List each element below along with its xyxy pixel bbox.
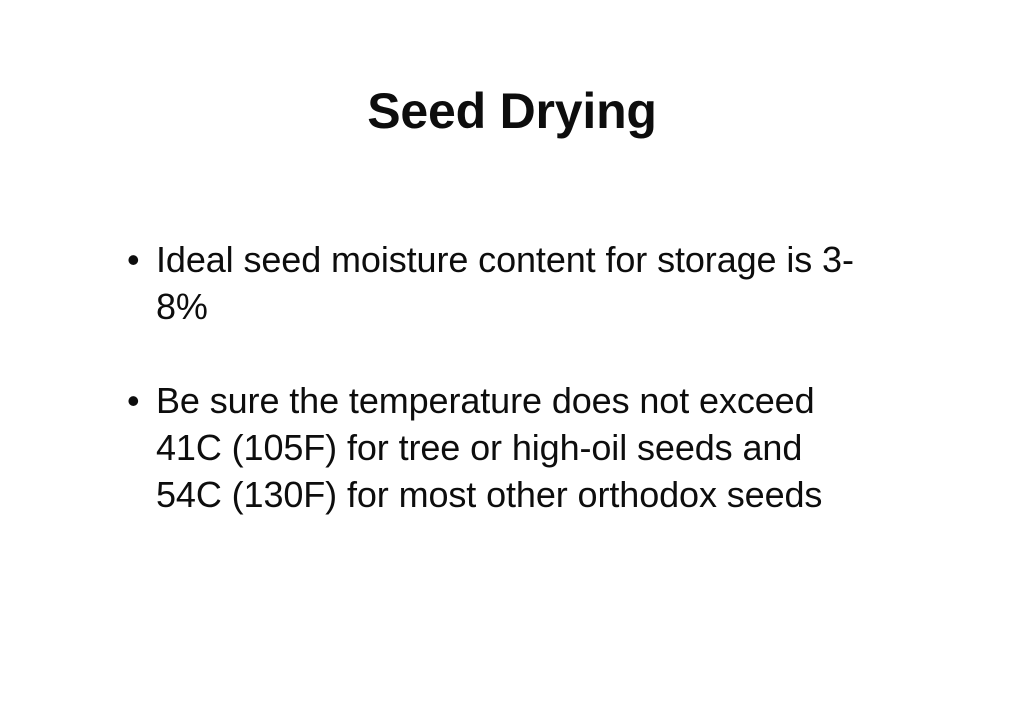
list-item: • Ideal seed moisture content for storag…: [120, 236, 910, 330]
page-title: Seed Drying: [0, 82, 1024, 140]
bullet-list: • Ideal seed moisture content for storag…: [120, 236, 910, 518]
list-item-label: Be sure the temperature does not exceed …: [156, 377, 868, 518]
bullet-point-icon: •: [127, 377, 145, 424]
list-item-label: Ideal seed moisture content for storage …: [156, 236, 886, 330]
list-item: • Be sure the temperature does not excee…: [120, 377, 910, 518]
bullet-point-icon: •: [127, 236, 145, 283]
presentation-slide: Seed Drying • Ideal seed moisture conten…: [0, 0, 1024, 724]
